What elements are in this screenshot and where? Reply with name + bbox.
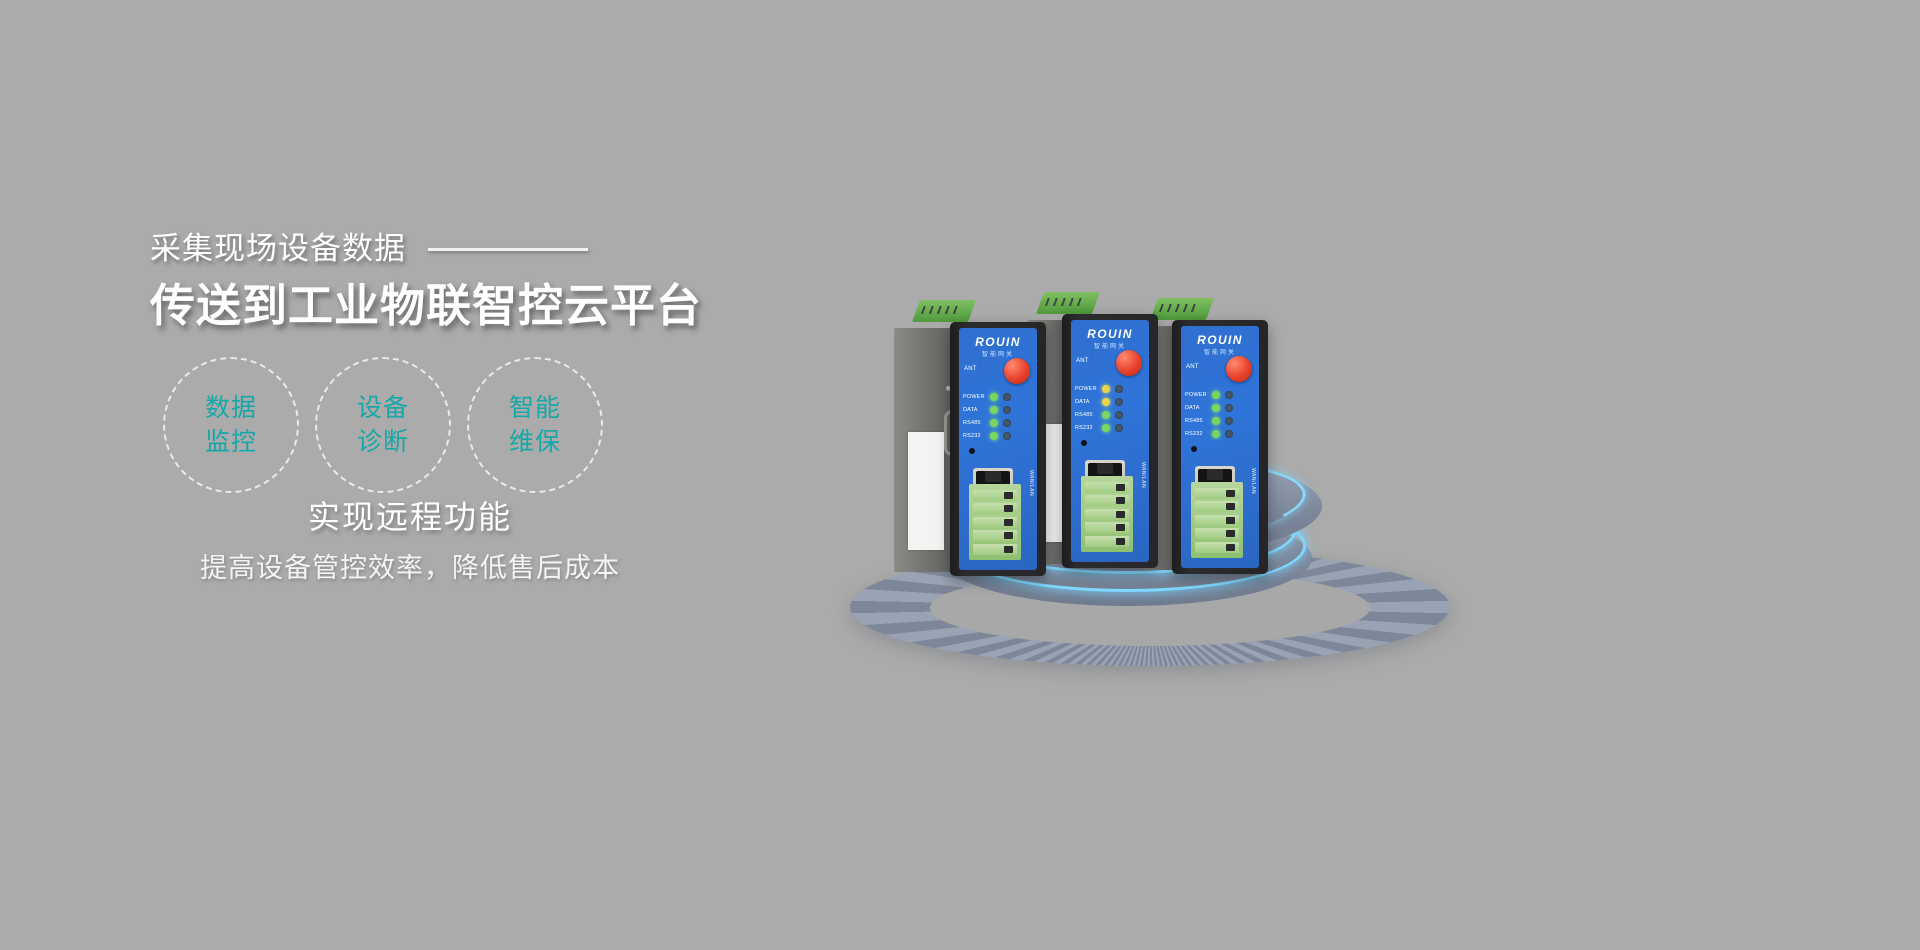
feature-badge-smart-maintenance[interactable]: 智能 维保: [467, 357, 603, 493]
device-top-connector: [912, 300, 976, 322]
data-led: [990, 406, 998, 414]
rs232-led: [1102, 424, 1110, 432]
power-led-secondary: [1003, 393, 1011, 401]
product-scene: ROUIN 智能网关 ANT POWER DATA: [800, 200, 1500, 660]
led-label: DATA: [1185, 405, 1207, 411]
device-front-panel: ROUIN 智能网关 ANT POWER DATA: [1181, 326, 1259, 568]
antenna-connector[interactable]: [1116, 350, 1142, 376]
ethernet-port-label: WAN/LAN: [1140, 462, 1146, 488]
rs485-led: [1102, 411, 1110, 419]
power-led-secondary: [1115, 385, 1123, 393]
terminal-slot: [1195, 501, 1239, 512]
power-led-secondary: [1225, 391, 1233, 399]
hero-headline: 传送到工业物联智控云平台: [150, 275, 830, 337]
device-brand-logo: ROUIN: [1181, 333, 1259, 347]
led-row-rs485: RS485: [963, 416, 1035, 429]
device-brand-subtitle: 智能网关: [1071, 341, 1149, 350]
led-label: POWER: [1185, 392, 1207, 398]
rs232-led-secondary: [1115, 424, 1123, 432]
antenna-connector[interactable]: [1226, 356, 1252, 382]
power-led: [1102, 385, 1110, 393]
led-indicator-group: POWER DATA RS485 RS2: [963, 390, 1035, 442]
terminal-slot: [1195, 528, 1239, 539]
led-row-power: POWER: [963, 390, 1035, 403]
feature-badge-group: 数据 监控 设备 诊断 智能 维保: [163, 357, 603, 493]
led-row-rs485: RS485: [1185, 414, 1257, 427]
terminal-slot: [1085, 536, 1129, 547]
led-row-rs485: RS485: [1075, 408, 1147, 421]
device-shell: ROUIN 智能网关 ANT POWER DATA: [1172, 320, 1268, 574]
led-row-data: DATA: [1075, 395, 1147, 408]
kicker-divider-line: [428, 248, 588, 251]
terminal-slot: [973, 530, 1017, 541]
led-label: RS485: [1185, 418, 1207, 424]
terminal-block[interactable]: [969, 484, 1021, 560]
caption-primary: 实现远程功能: [150, 495, 670, 539]
badge-line-1: 智能: [509, 391, 561, 425]
kicker-row: 采集现场设备数据: [150, 225, 830, 273]
feature-badge-data-monitoring[interactable]: 数据 监控: [163, 357, 299, 493]
device-shell: ROUIN 智能网关 ANT POWER DATA: [950, 322, 1046, 576]
badge-line-2: 维保: [509, 425, 561, 459]
device-top-connector-pins: [921, 306, 958, 314]
rs485-led-secondary: [1003, 419, 1011, 427]
led-label: POWER: [963, 394, 985, 400]
reset-button[interactable]: [1081, 440, 1087, 446]
antenna-label: ANT: [1076, 358, 1089, 364]
hero-kicker: 采集现场设备数据: [150, 225, 406, 273]
data-led: [1102, 398, 1110, 406]
data-led-secondary: [1225, 404, 1233, 412]
terminal-slot: [973, 503, 1017, 514]
device-front-panel: ROUIN 智能网关 ANT POWER DATA: [1071, 320, 1149, 562]
device-top-connector-pins: [1045, 298, 1082, 306]
rs232-led: [990, 432, 998, 440]
led-indicator-group: POWER DATA RS485 RS2: [1185, 388, 1257, 440]
led-label: RS232: [963, 433, 985, 439]
led-row-data: DATA: [963, 403, 1035, 416]
data-led-secondary: [1115, 398, 1123, 406]
ethernet-port-label: WAN/LAN: [1028, 470, 1034, 496]
badge-line-1: 设备: [357, 391, 409, 425]
terminal-slot: [1085, 482, 1129, 493]
terminal-slot: [973, 544, 1017, 555]
rs232-led: [1212, 430, 1220, 438]
device-top-connector: [1150, 298, 1214, 320]
antenna-connector[interactable]: [1004, 358, 1030, 384]
led-label: RS232: [1185, 431, 1207, 437]
terminal-slot: [1195, 542, 1239, 553]
rs485-led: [990, 419, 998, 427]
led-label: RS485: [1075, 412, 1097, 418]
device-top-connector: [1036, 292, 1100, 314]
data-led: [1212, 404, 1220, 412]
power-led: [1212, 391, 1220, 399]
gateway-device-right[interactable]: ROUIN 智能网关 ANT POWER DATA: [1172, 312, 1268, 574]
ethernet-port-label: WAN/LAN: [1250, 468, 1256, 494]
led-row-rs232: RS232: [1185, 427, 1257, 440]
device-shell: ROUIN 智能网关 ANT POWER DATA: [1062, 314, 1158, 568]
rs485-led: [1212, 417, 1220, 425]
device-brand-subtitle: 智能网关: [1181, 347, 1259, 356]
device-brand-logo: ROUIN: [1071, 327, 1149, 341]
data-led-secondary: [1003, 406, 1011, 414]
power-led: [990, 393, 998, 401]
gateway-device-center[interactable]: ROUIN 智能网关 ANT POWER DATA: [1062, 306, 1158, 568]
gateway-device-left[interactable]: ROUIN 智能网关 ANT POWER DATA: [950, 314, 1046, 576]
device-front-panel: ROUIN 智能网关 ANT POWER DATA: [959, 328, 1037, 570]
reset-button[interactable]: [969, 448, 975, 454]
led-row-power: POWER: [1075, 382, 1147, 395]
device-brand-logo: ROUIN: [959, 335, 1037, 349]
led-indicator-group: POWER DATA RS485 RS2: [1075, 382, 1147, 434]
led-row-rs232: RS232: [1075, 421, 1147, 434]
badge-line-2: 诊断: [357, 425, 409, 459]
caption-secondary: 提高设备管控效率，降低售后成本: [150, 548, 670, 588]
led-row-data: DATA: [1185, 401, 1257, 414]
antenna-label: ANT: [964, 366, 977, 372]
device-brand-subtitle: 智能网关: [959, 349, 1037, 358]
badge-line-2: 监控: [205, 425, 257, 459]
led-row-rs232: RS232: [963, 429, 1035, 442]
led-label: RS485: [963, 420, 985, 426]
antenna-label: ANT: [1186, 364, 1199, 370]
terminal-slot: [1195, 488, 1239, 499]
reset-button[interactable]: [1191, 446, 1197, 452]
badge-line-1: 数据: [205, 391, 257, 425]
terminal-slot: [1085, 495, 1129, 506]
terminal-block[interactable]: [1191, 482, 1243, 558]
terminal-slot: [973, 490, 1017, 501]
led-label: DATA: [963, 407, 985, 413]
terminal-slot: [1085, 509, 1129, 520]
rs485-led-secondary: [1225, 417, 1233, 425]
terminal-slot: [1085, 522, 1129, 533]
terminal-block[interactable]: [1081, 476, 1133, 552]
led-label: RS232: [1075, 425, 1097, 431]
rs485-led-secondary: [1115, 411, 1123, 419]
rs232-led-secondary: [1003, 432, 1011, 440]
hero-text-block: 采集现场设备数据 传送到工业物联智控云平台: [150, 225, 830, 337]
feature-badge-device-diagnosis[interactable]: 设备 诊断: [315, 357, 451, 493]
rs232-led-secondary: [1225, 430, 1233, 438]
led-label: POWER: [1075, 386, 1097, 392]
terminal-slot: [1195, 515, 1239, 526]
terminal-slot: [973, 517, 1017, 528]
led-row-power: POWER: [1185, 388, 1257, 401]
device-top-connector-pins: [1159, 304, 1196, 312]
device-spec-label: [908, 432, 944, 550]
led-label: DATA: [1075, 399, 1097, 405]
